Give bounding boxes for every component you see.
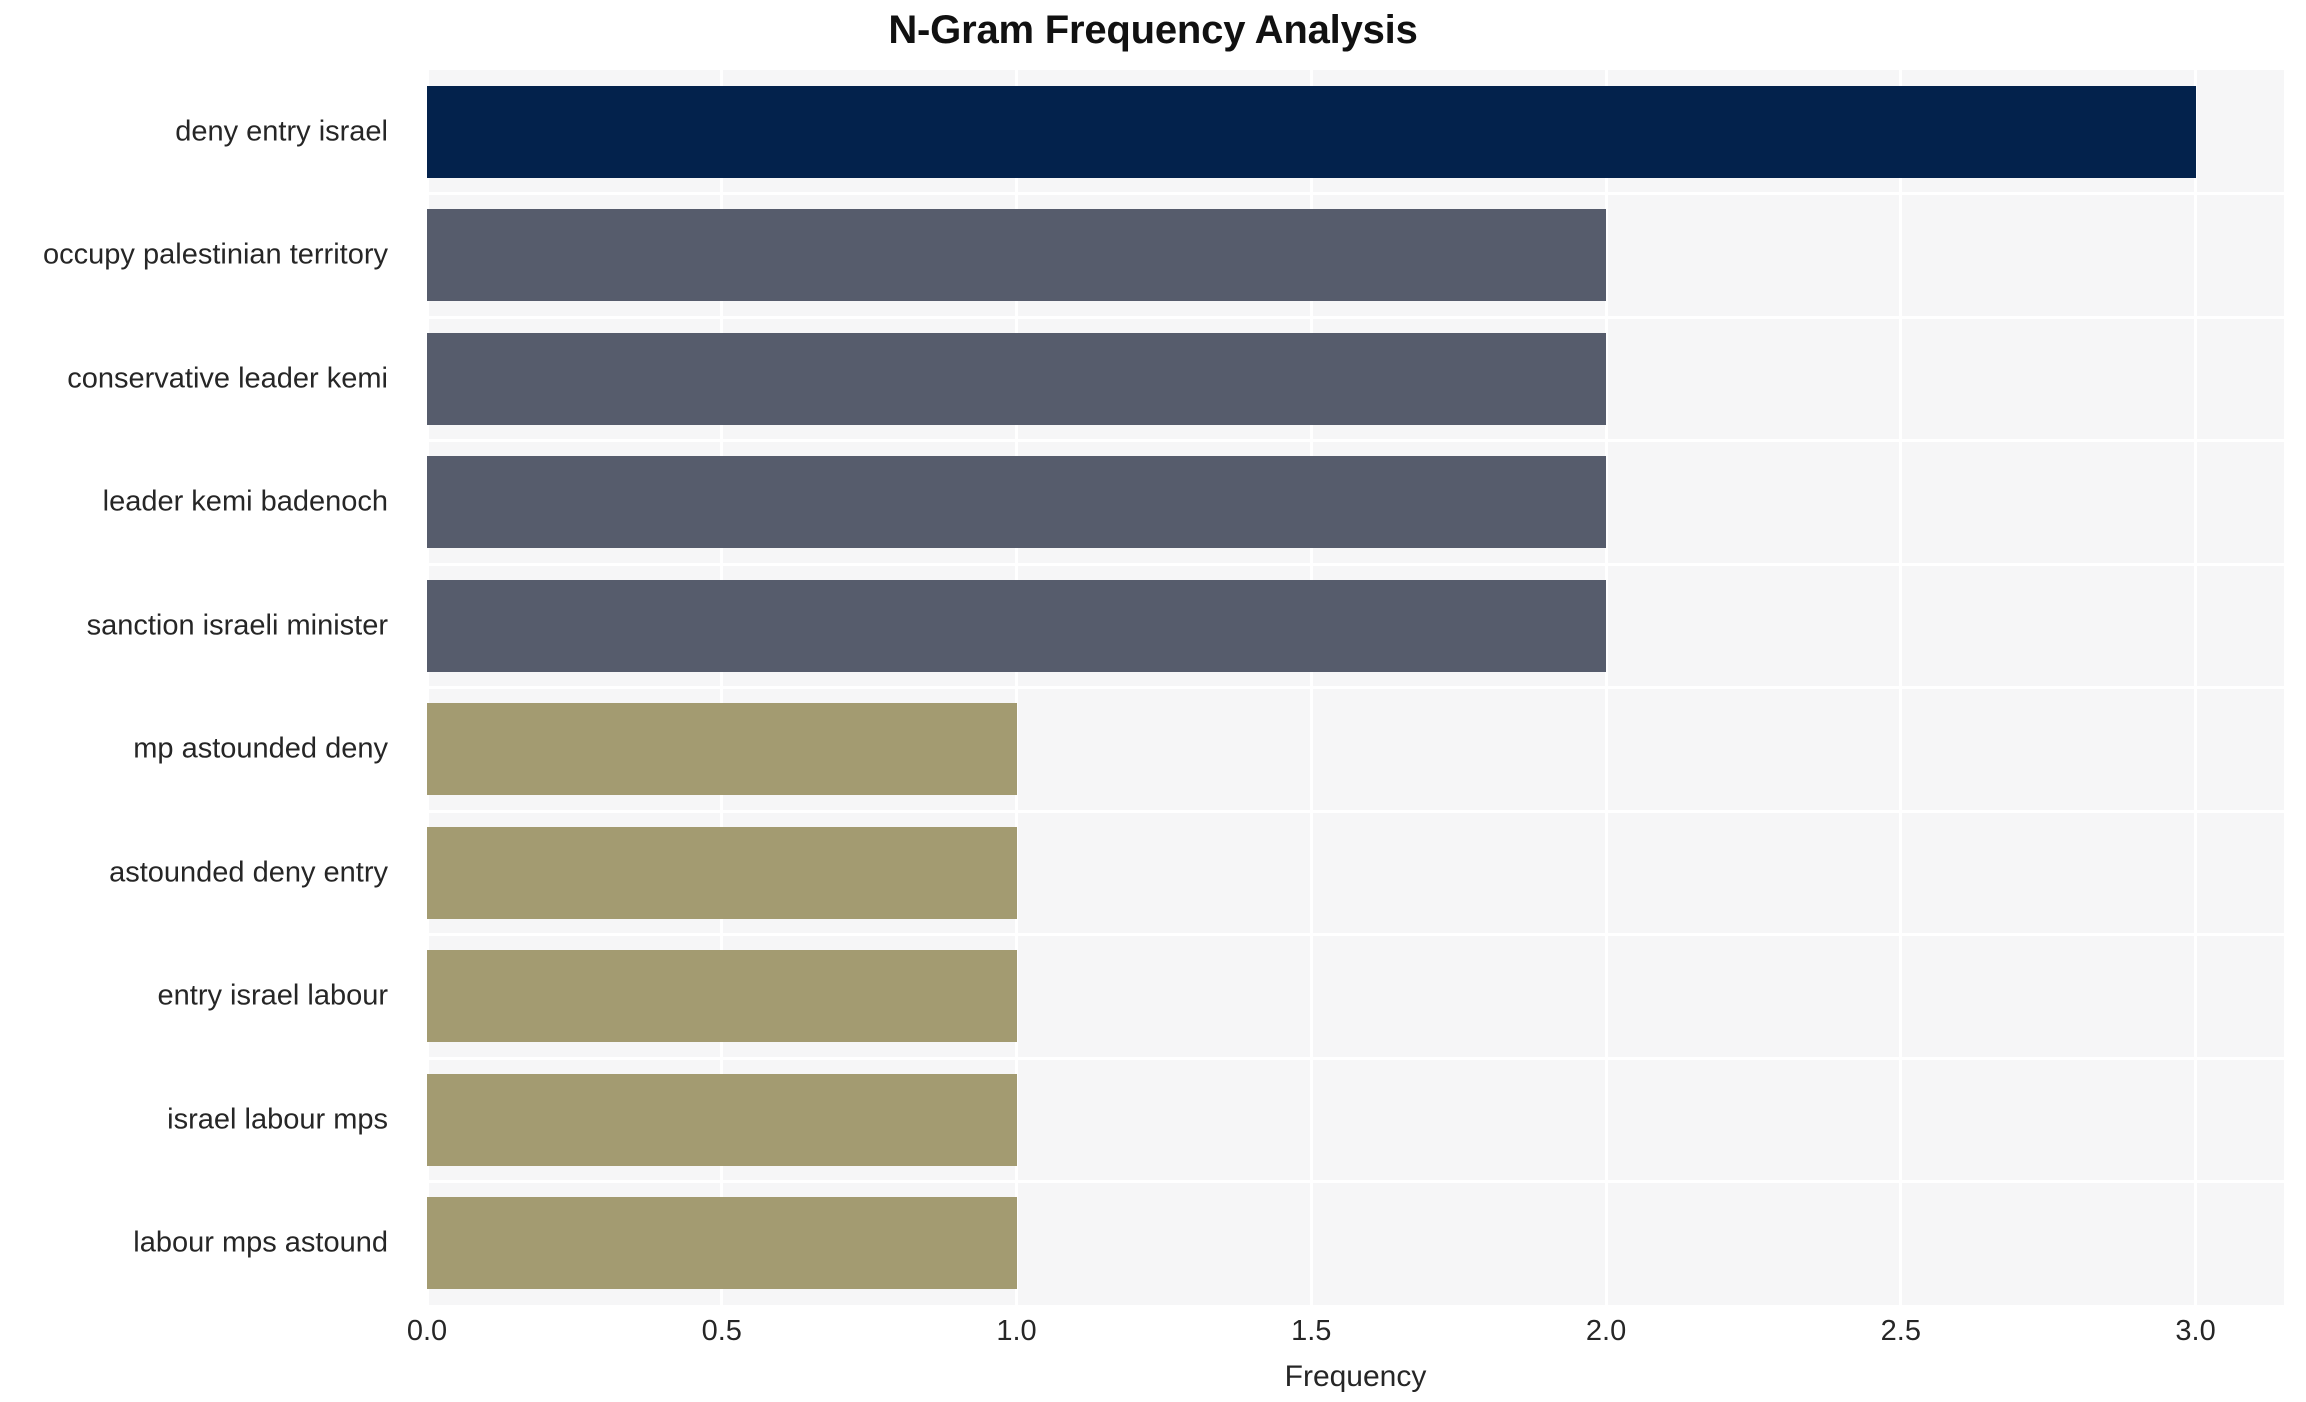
y-axis-tick-labels: deny entry israeloccupy palestinian terr… [0, 0, 410, 1402]
x-axis-tick-label: 1.5 [1291, 1315, 1331, 1348]
y-axis-tick-label: israel labour mps [0, 1103, 410, 1136]
gridline-horizontal [427, 439, 2284, 442]
x-axis-tick-label: 2.0 [1586, 1315, 1626, 1348]
bar[interactable] [427, 209, 1606, 301]
y-axis-tick-label: sanction israeli minister [0, 609, 410, 642]
bar[interactable] [427, 1074, 1017, 1166]
x-axis-tick-label: 2.5 [1881, 1315, 1921, 1348]
gridline-horizontal [427, 1057, 2284, 1060]
y-axis-tick-label: labour mps astound [0, 1227, 410, 1260]
gridline-horizontal [427, 686, 2284, 689]
y-axis-tick-label: conservative leader kemi [0, 362, 410, 395]
y-axis-tick-label: occupy palestinian territory [0, 239, 410, 272]
y-axis-tick-label: leader kemi badenoch [0, 486, 410, 519]
gridline-horizontal [427, 1180, 2284, 1183]
gridline-horizontal [427, 810, 2284, 813]
bar[interactable] [427, 827, 1017, 919]
bar[interactable] [427, 86, 2196, 178]
y-axis-tick-label: deny entry israel [0, 115, 410, 148]
bar[interactable] [427, 580, 1606, 672]
x-axis-tick-label: 0.5 [702, 1315, 742, 1348]
bar[interactable] [427, 456, 1606, 548]
plot-area [427, 70, 2284, 1305]
chart-figure: N-Gram Frequency Analysis deny entry isr… [0, 0, 2306, 1402]
y-axis-tick-label: mp astounded deny [0, 733, 410, 766]
y-axis-tick-label: entry israel labour [0, 980, 410, 1013]
y-axis-tick-label: astounded deny entry [0, 856, 410, 889]
x-axis-tick-label: 3.0 [2175, 1315, 2215, 1348]
gridline-horizontal [427, 933, 2284, 936]
bar[interactable] [427, 950, 1017, 1042]
bar[interactable] [427, 1197, 1017, 1289]
gridline-horizontal [427, 192, 2284, 195]
bar[interactable] [427, 333, 1606, 425]
bar[interactable] [427, 703, 1017, 795]
x-axis-title: Frequency [427, 1360, 2284, 1394]
gridline-horizontal [427, 316, 2284, 319]
x-axis-tick-label: 0.0 [407, 1315, 447, 1348]
gridline-horizontal [427, 563, 2284, 566]
x-axis-tick-label: 1.0 [996, 1315, 1036, 1348]
x-axis-tick-labels: 0.00.51.01.52.02.53.0 [427, 1315, 2284, 1365]
